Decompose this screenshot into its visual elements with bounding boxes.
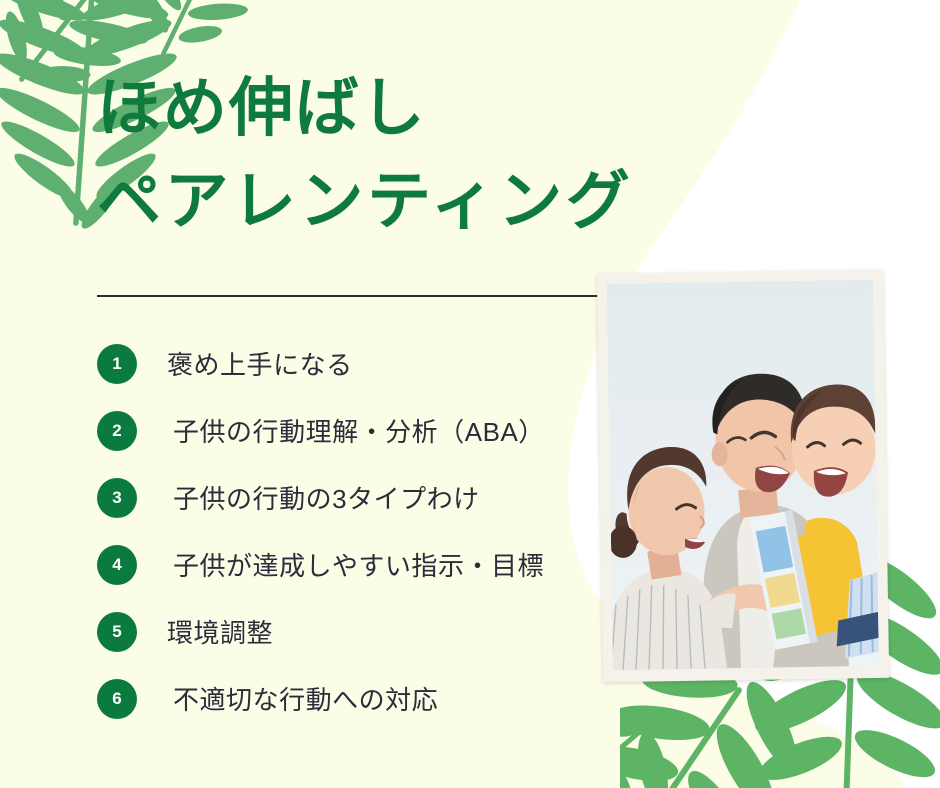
list-item-label: 子供が達成しやすい指示・目標 xyxy=(173,546,544,583)
family-photo xyxy=(607,280,879,670)
list-item[interactable]: 4 子供が達成しやすい指示・目標 xyxy=(97,531,617,598)
family-photo-illustration xyxy=(607,280,879,670)
list-item-label: 褒め上手になる xyxy=(167,345,353,382)
list-item-label: 環境調整 xyxy=(167,613,273,650)
list-item-label: 子供の行動の3タイプわけ xyxy=(173,479,480,516)
title-divider xyxy=(97,295,602,297)
list-item-number-badge: 3 xyxy=(97,478,137,518)
title-line-2: ペアレンティング xyxy=(97,155,757,248)
list-item-number-badge: 1 xyxy=(97,344,137,384)
list-item[interactable]: 5 環境調整 xyxy=(97,598,617,665)
title-line-1: ほめ伸ばし xyxy=(97,62,757,155)
list-item-label: 不適切な行動への対応 xyxy=(173,680,438,717)
list-item[interactable]: 1 褒め上手になる xyxy=(97,330,617,397)
list-item-number-badge: 5 xyxy=(97,612,137,652)
list-item[interactable]: 6 不適切な行動への対応 xyxy=(97,665,617,732)
list-item-label: 子供の行動理解・分析（ABA） xyxy=(173,412,545,449)
list-item[interactable]: 2 子供の行動理解・分析（ABA） xyxy=(97,397,617,464)
list-item-number-badge: 2 xyxy=(97,411,137,451)
family-photo-frame xyxy=(597,270,889,682)
list-item-number-badge: 4 xyxy=(97,545,137,585)
topic-list: 1 褒め上手になる 2 子供の行動理解・分析（ABA） 3 子供の行動の3タイプ… xyxy=(97,330,617,732)
list-item-number-badge: 6 xyxy=(97,679,137,719)
list-item[interactable]: 3 子供の行動の3タイプわけ xyxy=(97,464,617,531)
page-title: ほめ伸ばし ペアレンティング xyxy=(97,62,757,248)
slide-canvas: ほめ伸ばし ペアレンティング 1 褒め上手になる 2 子供の行動理解・分析（AB… xyxy=(0,0,940,788)
